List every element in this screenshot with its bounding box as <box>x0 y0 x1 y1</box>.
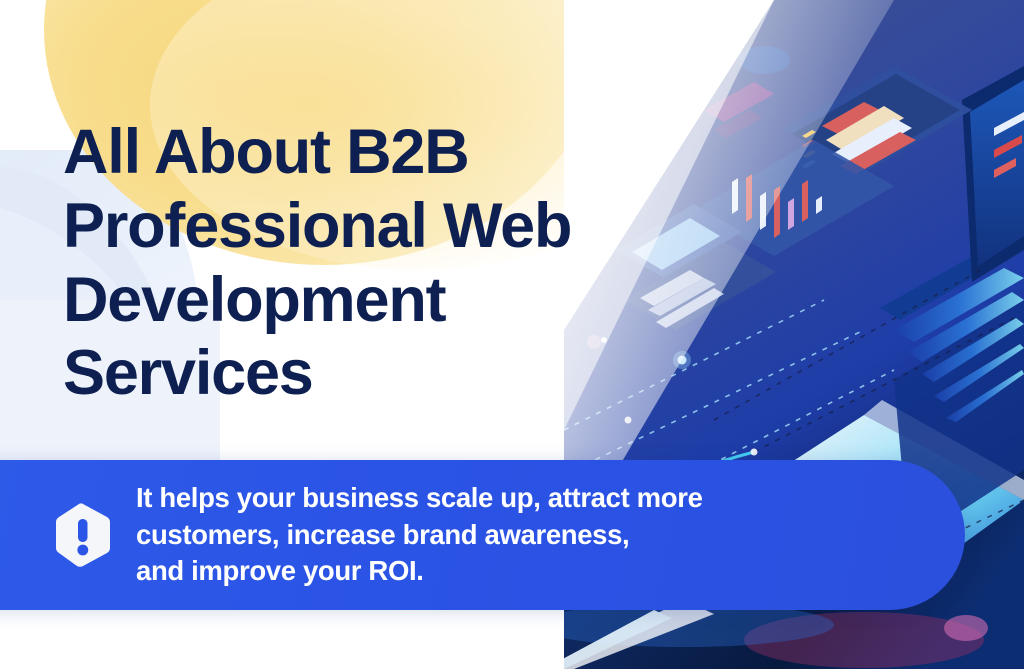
callout-line-3: and improve your ROI. <box>136 553 703 590</box>
marketing-banner: All About B2B Professional Web Developme… <box>0 0 1024 669</box>
exclamation-hexagon-icon <box>52 502 114 568</box>
callout-line-1: It helps your business scale up, attract… <box>136 480 703 517</box>
headline-line-1: All About B2B <box>63 116 783 190</box>
headline-line-3: Development <box>63 264 783 338</box>
callout-text: It helps your business scale up, attract… <box>136 480 703 590</box>
page-title: All About B2B Professional Web Developme… <box>63 116 783 411</box>
callout-bar: It helps your business scale up, attract… <box>0 460 965 610</box>
headline-line-2: Professional Web <box>63 190 783 264</box>
headline-line-4: Services <box>63 337 783 411</box>
callout-line-2: customers, increase brand awareness, <box>136 517 703 554</box>
